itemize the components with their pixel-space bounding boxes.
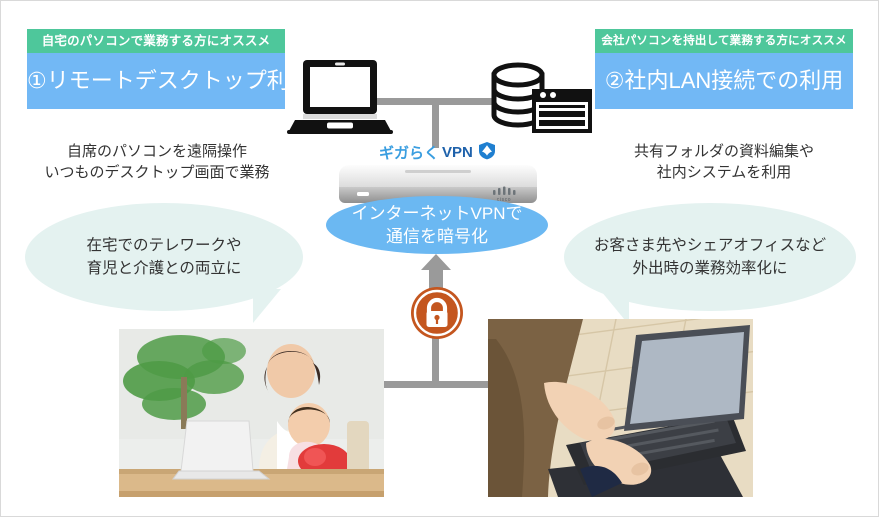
left-recommend-band: 自宅のパソコンで業務する方にオススメ	[27, 29, 285, 53]
left-speech-bubble-tail	[253, 289, 281, 323]
left-panel-caption: 自席のパソコンを遠隔操作 いつものデスクトップ画面で業務	[12, 141, 302, 183]
left-panel-title: ①リモートデスクトップ利用	[27, 53, 285, 109]
right-panel-title: ②社内LAN接続での利用	[595, 53, 853, 109]
right-panel-caption: 共有フォルダの資料編集や 社内システムを利用	[579, 141, 869, 183]
photo-telework-home	[119, 329, 384, 497]
database-server-icon	[488, 59, 594, 142]
left-panel-banner: 自宅のパソコンで業務する方にオススメ ①リモートデスクトップ利用	[27, 29, 285, 109]
diagram-canvas: 自宅のパソコンで業務する方にオススメ ①リモートデスクトップ利用 自席のパソコン…	[0, 0, 879, 517]
laptop-icon	[287, 58, 393, 139]
right-panel-banner: 会社パソコンを持出して業務する方にオススメ ②社内LAN接続での利用	[595, 29, 853, 109]
vpn-encryption-ellipse: インターネットVPNで 通信を暗号化	[326, 196, 548, 254]
logo-vpn-text: VPN	[442, 144, 473, 161]
photo-mobile-work	[488, 319, 753, 497]
logo-kana-text: ギガらく	[379, 142, 439, 163]
right-recommend-band: 会社パソコンを持出して業務する方にオススメ	[595, 29, 853, 53]
padlock-icon	[410, 286, 464, 345]
